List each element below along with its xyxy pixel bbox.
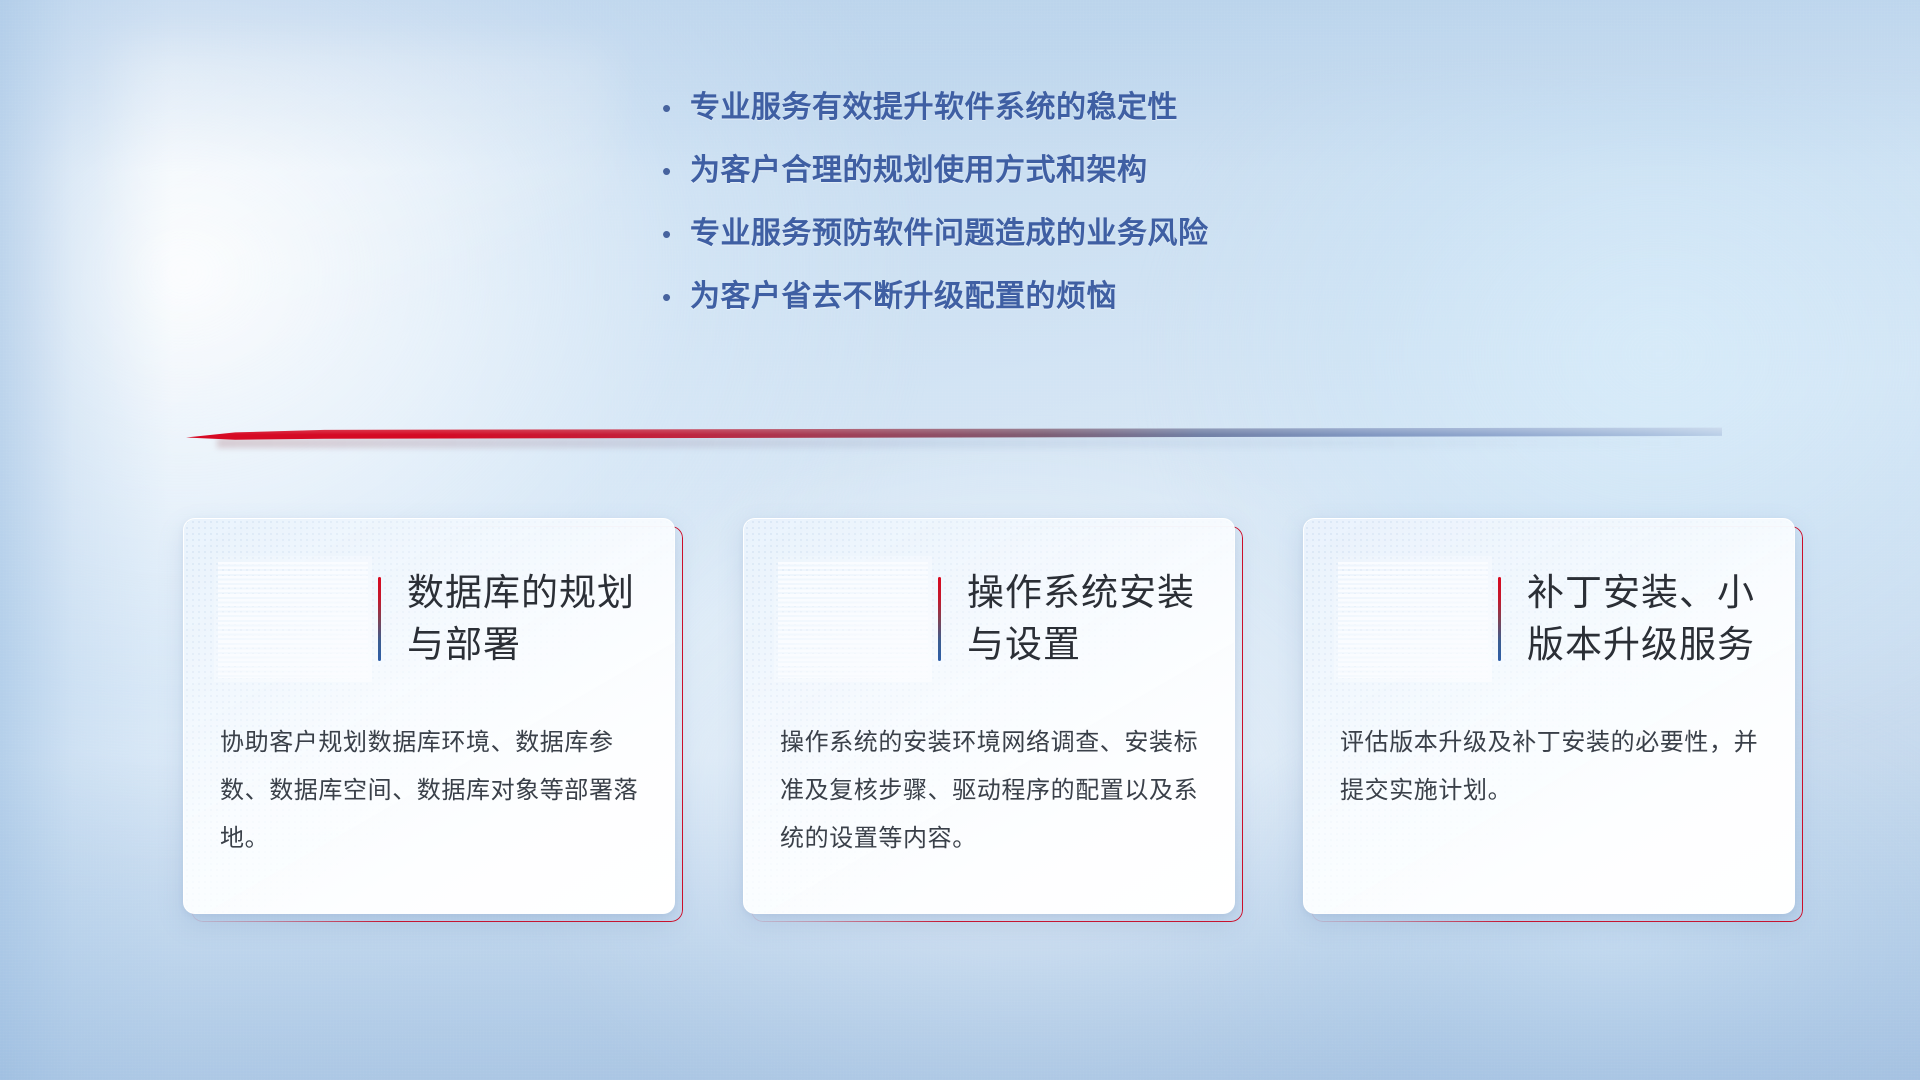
bullet-marker-icon: • (660, 214, 690, 254)
bullet-text: 专业服务预防软件问题造成的业务风险 (690, 214, 1209, 254)
bullet-marker-icon: • (660, 277, 690, 317)
service-card-02[interactable]: 02 操作系统安装与设置 操作系统的安装环境网络调查、安装标准及复核步骤、驱动程… (743, 518, 1239, 918)
card-number-text: 01 (231, 560, 355, 678)
card-ghost-number: 03 (1338, 560, 1488, 678)
list-item: • 为客户合理的规划使用方式和架构 (660, 151, 1420, 214)
card-title-rule (938, 577, 941, 661)
card-title-rule (1498, 577, 1501, 661)
card-header: 01 数据库的规划与部署 (184, 549, 674, 689)
bullet-marker-icon: • (660, 88, 690, 128)
list-item: • 为客户省去不断升级配置的烦恼 (660, 277, 1420, 340)
card-surface: 02 操作系统安装与设置 操作系统的安装环境网络调查、安装标准及复核步骤、驱动程… (743, 518, 1235, 914)
service-card-01[interactable]: 01 数据库的规划与部署 协助客户规划数据库环境、数据库参数、数据库空间、数据库… (183, 518, 679, 918)
divider-shadow (217, 438, 1692, 448)
bullet-marker-icon: • (660, 151, 690, 191)
section-divider (186, 426, 1722, 442)
bullet-text: 为客户省去不断升级配置的烦恼 (690, 277, 1117, 317)
card-description: 评估版本升级及补丁安装的必要性，并提交实施计划。 (1340, 719, 1760, 815)
service-card-03[interactable]: 03 补丁安装、小版本升级服务 评估版本升级及补丁安装的必要性，并提交实施计划。 (1303, 518, 1799, 918)
card-title: 补丁安装、小版本升级服务 (1527, 567, 1789, 671)
card-surface: 01 数据库的规划与部署 协助客户规划数据库环境、数据库参数、数据库空间、数据库… (183, 518, 675, 914)
bullet-text: 为客户合理的规划使用方式和架构 (690, 151, 1148, 191)
card-description: 协助客户规划数据库环境、数据库参数、数据库空间、数据库对象等部署落地。 (220, 719, 640, 863)
card-description: 操作系统的安装环境网络调查、安装标准及复核步骤、驱动程序的配置以及系统的设置等内… (780, 719, 1200, 863)
service-card-group: 01 数据库的规划与部署 协助客户规划数据库环境、数据库参数、数据库空间、数据库… (183, 518, 1799, 918)
card-number-text: 03 (1351, 560, 1475, 678)
card-header: 03 补丁安装、小版本升级服务 (1304, 549, 1794, 689)
list-item: • 专业服务有效提升软件系统的稳定性 (660, 88, 1420, 151)
card-ghost-number: 02 (778, 560, 928, 678)
card-ghost-number: 01 (218, 560, 368, 678)
bullet-text: 专业服务有效提升软件系统的稳定性 (690, 88, 1178, 128)
list-item: • 专业服务预防软件问题造成的业务风险 (660, 214, 1420, 277)
card-title: 数据库的规划与部署 (407, 567, 669, 671)
card-title: 操作系统安装与设置 (967, 567, 1229, 671)
benefits-bullet-list: • 专业服务有效提升软件系统的稳定性 • 为客户合理的规划使用方式和架构 • 专… (660, 88, 1420, 340)
card-number-text: 02 (791, 560, 915, 678)
card-title-rule (378, 577, 381, 661)
card-header: 02 操作系统安装与设置 (744, 549, 1234, 689)
card-surface: 03 补丁安装、小版本升级服务 评估版本升级及补丁安装的必要性，并提交实施计划。 (1303, 518, 1795, 914)
